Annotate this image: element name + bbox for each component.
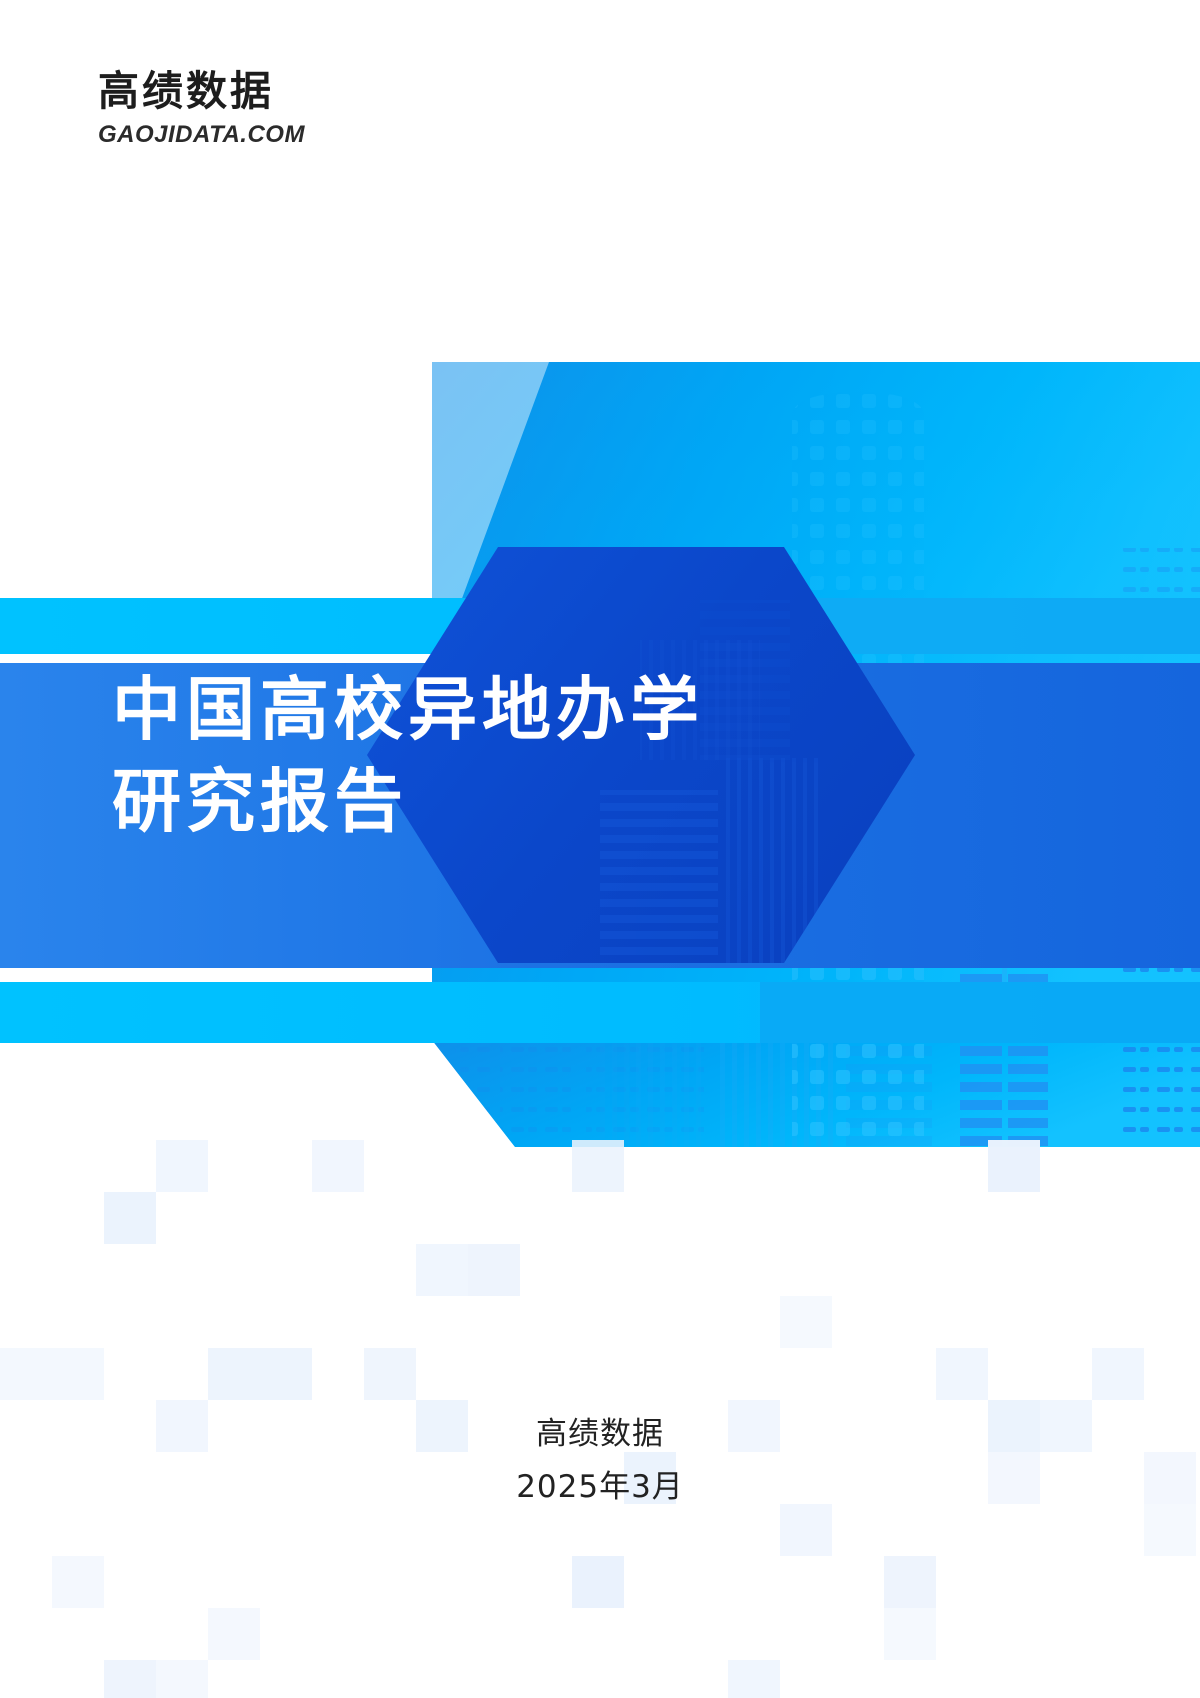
brand-logo: 高绩数据 GAOJIDATA.COM: [98, 68, 398, 149]
background-square: [52, 1348, 104, 1400]
background-square: [728, 1660, 780, 1698]
cover-footer: 高绩数据 2025年3月: [0, 1408, 1200, 1515]
report-cover-page: 高绩数据 GAOJIDATA.COM 中国高校异地办学 研究报告 高绩数据 20…: [0, 0, 1200, 1698]
background-square: [884, 1608, 936, 1660]
background-square: [208, 1608, 260, 1660]
footer-date: 2025年3月: [0, 1461, 1200, 1514]
background-square: [156, 1660, 208, 1698]
background-square: [1092, 1348, 1144, 1400]
background-square: [936, 1348, 988, 1400]
background-square: [104, 1660, 156, 1698]
background-square: [780, 1296, 832, 1348]
background-square: [0, 1348, 52, 1400]
background-square: [52, 1556, 104, 1608]
background-square: [884, 1556, 936, 1608]
brand-name-en: GAOJIDATA.COM: [98, 121, 398, 149]
background-square: [104, 1192, 156, 1244]
background-square: [468, 1244, 520, 1296]
background-square: [260, 1348, 312, 1400]
cover-artwork: [0, 0, 1200, 1160]
brand-name-cn: 高绩数据: [98, 68, 398, 115]
cover-title-line-2: 研究报告: [112, 756, 872, 848]
background-square: [208, 1348, 260, 1400]
cover-title: 中国高校异地办学 研究报告: [112, 664, 872, 849]
cover-title-line-1: 中国高校异地办学: [112, 664, 872, 756]
footer-publisher: 高绩数据: [0, 1408, 1200, 1461]
background-square: [572, 1556, 624, 1608]
background-square: [364, 1348, 416, 1400]
background-square: [416, 1244, 468, 1296]
